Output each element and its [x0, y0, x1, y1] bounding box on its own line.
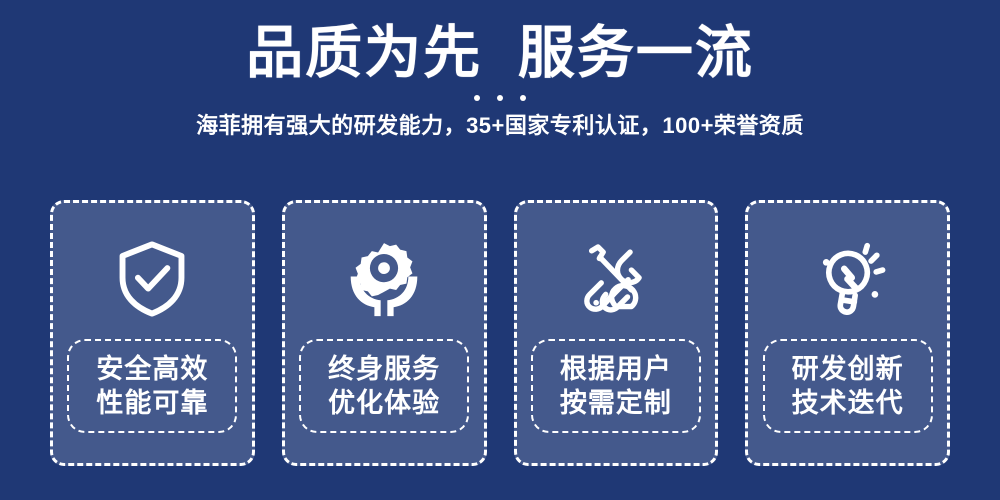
feature-label-line-1: 终身服务 [328, 352, 440, 386]
feature-label-line-2: 性能可靠 [96, 386, 208, 420]
feature-card[interactable]: 根据用户 按需定制 [514, 200, 719, 466]
feature-label-line-2: 优化体验 [328, 386, 440, 420]
feature-label-line-1: 研发创新 [792, 352, 904, 386]
separator-dot [520, 95, 526, 101]
banner-header: 品质为先 服务一流 海菲拥有强大的研发能力，35+国家专利认证，100+荣誉资质 [0, 0, 1000, 141]
feature-label-line-1: 安全高效 [96, 352, 208, 386]
feature-label-box: 根据用户 按需定制 [531, 339, 701, 433]
shield-check-icon [109, 233, 195, 325]
feature-label-box: 研发创新 技术迭代 [763, 339, 933, 433]
promo-banner: 品质为先 服务一流 海菲拥有强大的研发能力，35+国家专利认证，100+荣誉资质… [0, 0, 1000, 500]
feature-label-box: 终身服务 优化体验 [299, 339, 469, 433]
banner-subtitle: 海菲拥有强大的研发能力，35+国家专利认证，100+荣誉资质 [0, 111, 1000, 141]
feature-card[interactable]: 研发创新 技术迭代 [745, 200, 950, 466]
feature-label-box: 安全高效 性能可靠 [67, 339, 237, 433]
gear-in-hands-icon [341, 233, 427, 325]
feature-label-line-2: 按需定制 [560, 386, 672, 420]
dot-separator [0, 95, 1000, 101]
feature-card[interactable]: 安全高效 性能可靠 [50, 200, 255, 466]
banner-title: 品质为先 服务一流 [0, 22, 1000, 84]
feature-label-line-1: 根据用户 [560, 352, 672, 386]
feature-card-list: 安全高效 性能可靠 终身服务 优化体验 [50, 200, 950, 466]
separator-dot [474, 95, 480, 101]
feature-label-line-2: 技术迭代 [792, 386, 904, 420]
separator-dot [497, 95, 503, 101]
lightbulb-idea-icon [805, 233, 891, 325]
screwdriver-wrench-icon [573, 233, 659, 325]
feature-card[interactable]: 终身服务 优化体验 [282, 200, 487, 466]
